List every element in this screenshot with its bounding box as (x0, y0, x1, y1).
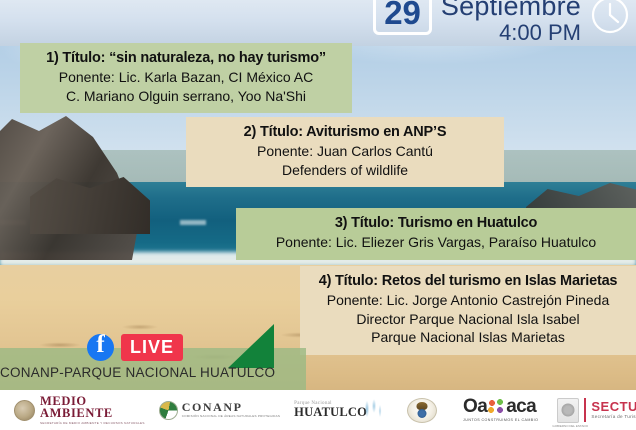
event-day: 29 (373, 0, 432, 35)
talk-speaker: Ponente: Juan Carlos Cantú (196, 142, 494, 160)
event-time: 4:00 PM (441, 21, 581, 45)
logo-sublabel: GOBIERNO DEL ESTADO (552, 424, 586, 428)
facebook-live-row[interactable]: LIVE (0, 334, 270, 361)
logo-medio-ambiente: MEDIO AMBIENTE SECRETARÍA DE MEDIO AMBIE… (14, 390, 145, 430)
logo-huatulco: Parque Nacional HUATULCO (294, 390, 383, 430)
sectur-divider (584, 398, 586, 422)
talk-block-3: 3) Título: Turismo en Huatulco Ponente: … (236, 208, 636, 260)
talk-org: Director Parque Nacional Isla Isabel (310, 310, 626, 328)
talk-title: 1) Título: “sin naturaleza, no hay turis… (30, 49, 342, 68)
logo-label: CONANP (182, 401, 280, 413)
footer-logo-bar: MEDIO AMBIENTE SECRETARÍA DE MEDIO AMBIE… (0, 390, 636, 430)
logo-label: Oa (463, 397, 487, 416)
facebook-page-name: CONANP-PARQUE NACIONAL HUATULCO (0, 365, 270, 380)
oaxaca-dots-icon (488, 399, 505, 414)
talk-title: 2) Título: Aviturismo en ANP’S (196, 123, 494, 142)
logo-label: MEDIO AMBIENTE (40, 395, 145, 420)
talk-speaker: Ponente: Lic. Karla Bazan, CI México AC (30, 68, 342, 86)
talk-speaker: Ponente: Lic. Jorge Antonio Castrejón Pi… (310, 291, 626, 309)
live-badge: LIVE (121, 334, 183, 361)
event-date-header: 29 Septiembre 4:00 PM (0, 0, 636, 46)
facebook-icon[interactable] (87, 334, 114, 361)
talk-title: 3) Título: Turismo en Huatulco (246, 214, 626, 233)
logo-label: aca (506, 397, 536, 416)
logo-sectur: GOBIERNO DEL ESTADO SECTUR Secretaría de… (557, 390, 636, 430)
conanp-mark-icon (159, 401, 178, 420)
mexico-seal-icon (14, 400, 35, 421)
logo-sublabel: JUNTOS CONSTRUIMOS EL CAMBIO (463, 419, 538, 423)
talk-title: 4) Título: Retos del turismo en Islas Ma… (310, 272, 626, 291)
sectur-seal-icon: GOBIERNO DEL ESTADO (557, 398, 579, 423)
talk-block-1: 1) Título: “sin naturaleza, no hay turis… (20, 43, 352, 113)
logo-conanp: CONANP COMISIÓN NACIONAL DE ÁREAS NATURA… (159, 390, 280, 430)
eagle-seal-icon (407, 398, 437, 423)
talk-org: Defenders of wildlife (196, 161, 494, 179)
talk-block-2: 2) Título: Aviturismo en ANP’S Ponente: … (186, 117, 504, 187)
logo-label: HUATULCO (294, 406, 367, 419)
logo-oaxaca: Oa aca JUNTOS CONSTRUIMOS EL CAMBIO (463, 390, 538, 430)
talk-speaker: Ponente: Lic. Eliezer Gris Vargas, Paraí… (246, 233, 626, 251)
event-month: Septiembre (441, 0, 581, 19)
logo-sublabel: Secretaría de Turismo (591, 415, 636, 420)
logo-sublabel: COMISIÓN NACIONAL DE ÁREAS NATURALES PRO… (182, 415, 280, 418)
talk-block-4: 4) Título: Retos del turismo en Islas Ma… (300, 266, 636, 355)
water-splash-icon (359, 395, 385, 425)
talk-org: Parque Nacional Islas Marietas (310, 328, 626, 346)
talk-speaker: C. Mariano Olguin serrano, Yoo Na'Shi (30, 87, 342, 105)
logo-sublabel: SECRETARÍA DE MEDIO AMBIENTE Y RECURSOS … (40, 422, 145, 425)
logo-gobierno-oaxaca-seal (407, 390, 437, 430)
clock-icon (590, 0, 630, 40)
logo-label: SECTUR (591, 400, 636, 413)
event-poster: 29 Septiembre 4:00 PM 1) Título: “sin na… (0, 0, 636, 430)
